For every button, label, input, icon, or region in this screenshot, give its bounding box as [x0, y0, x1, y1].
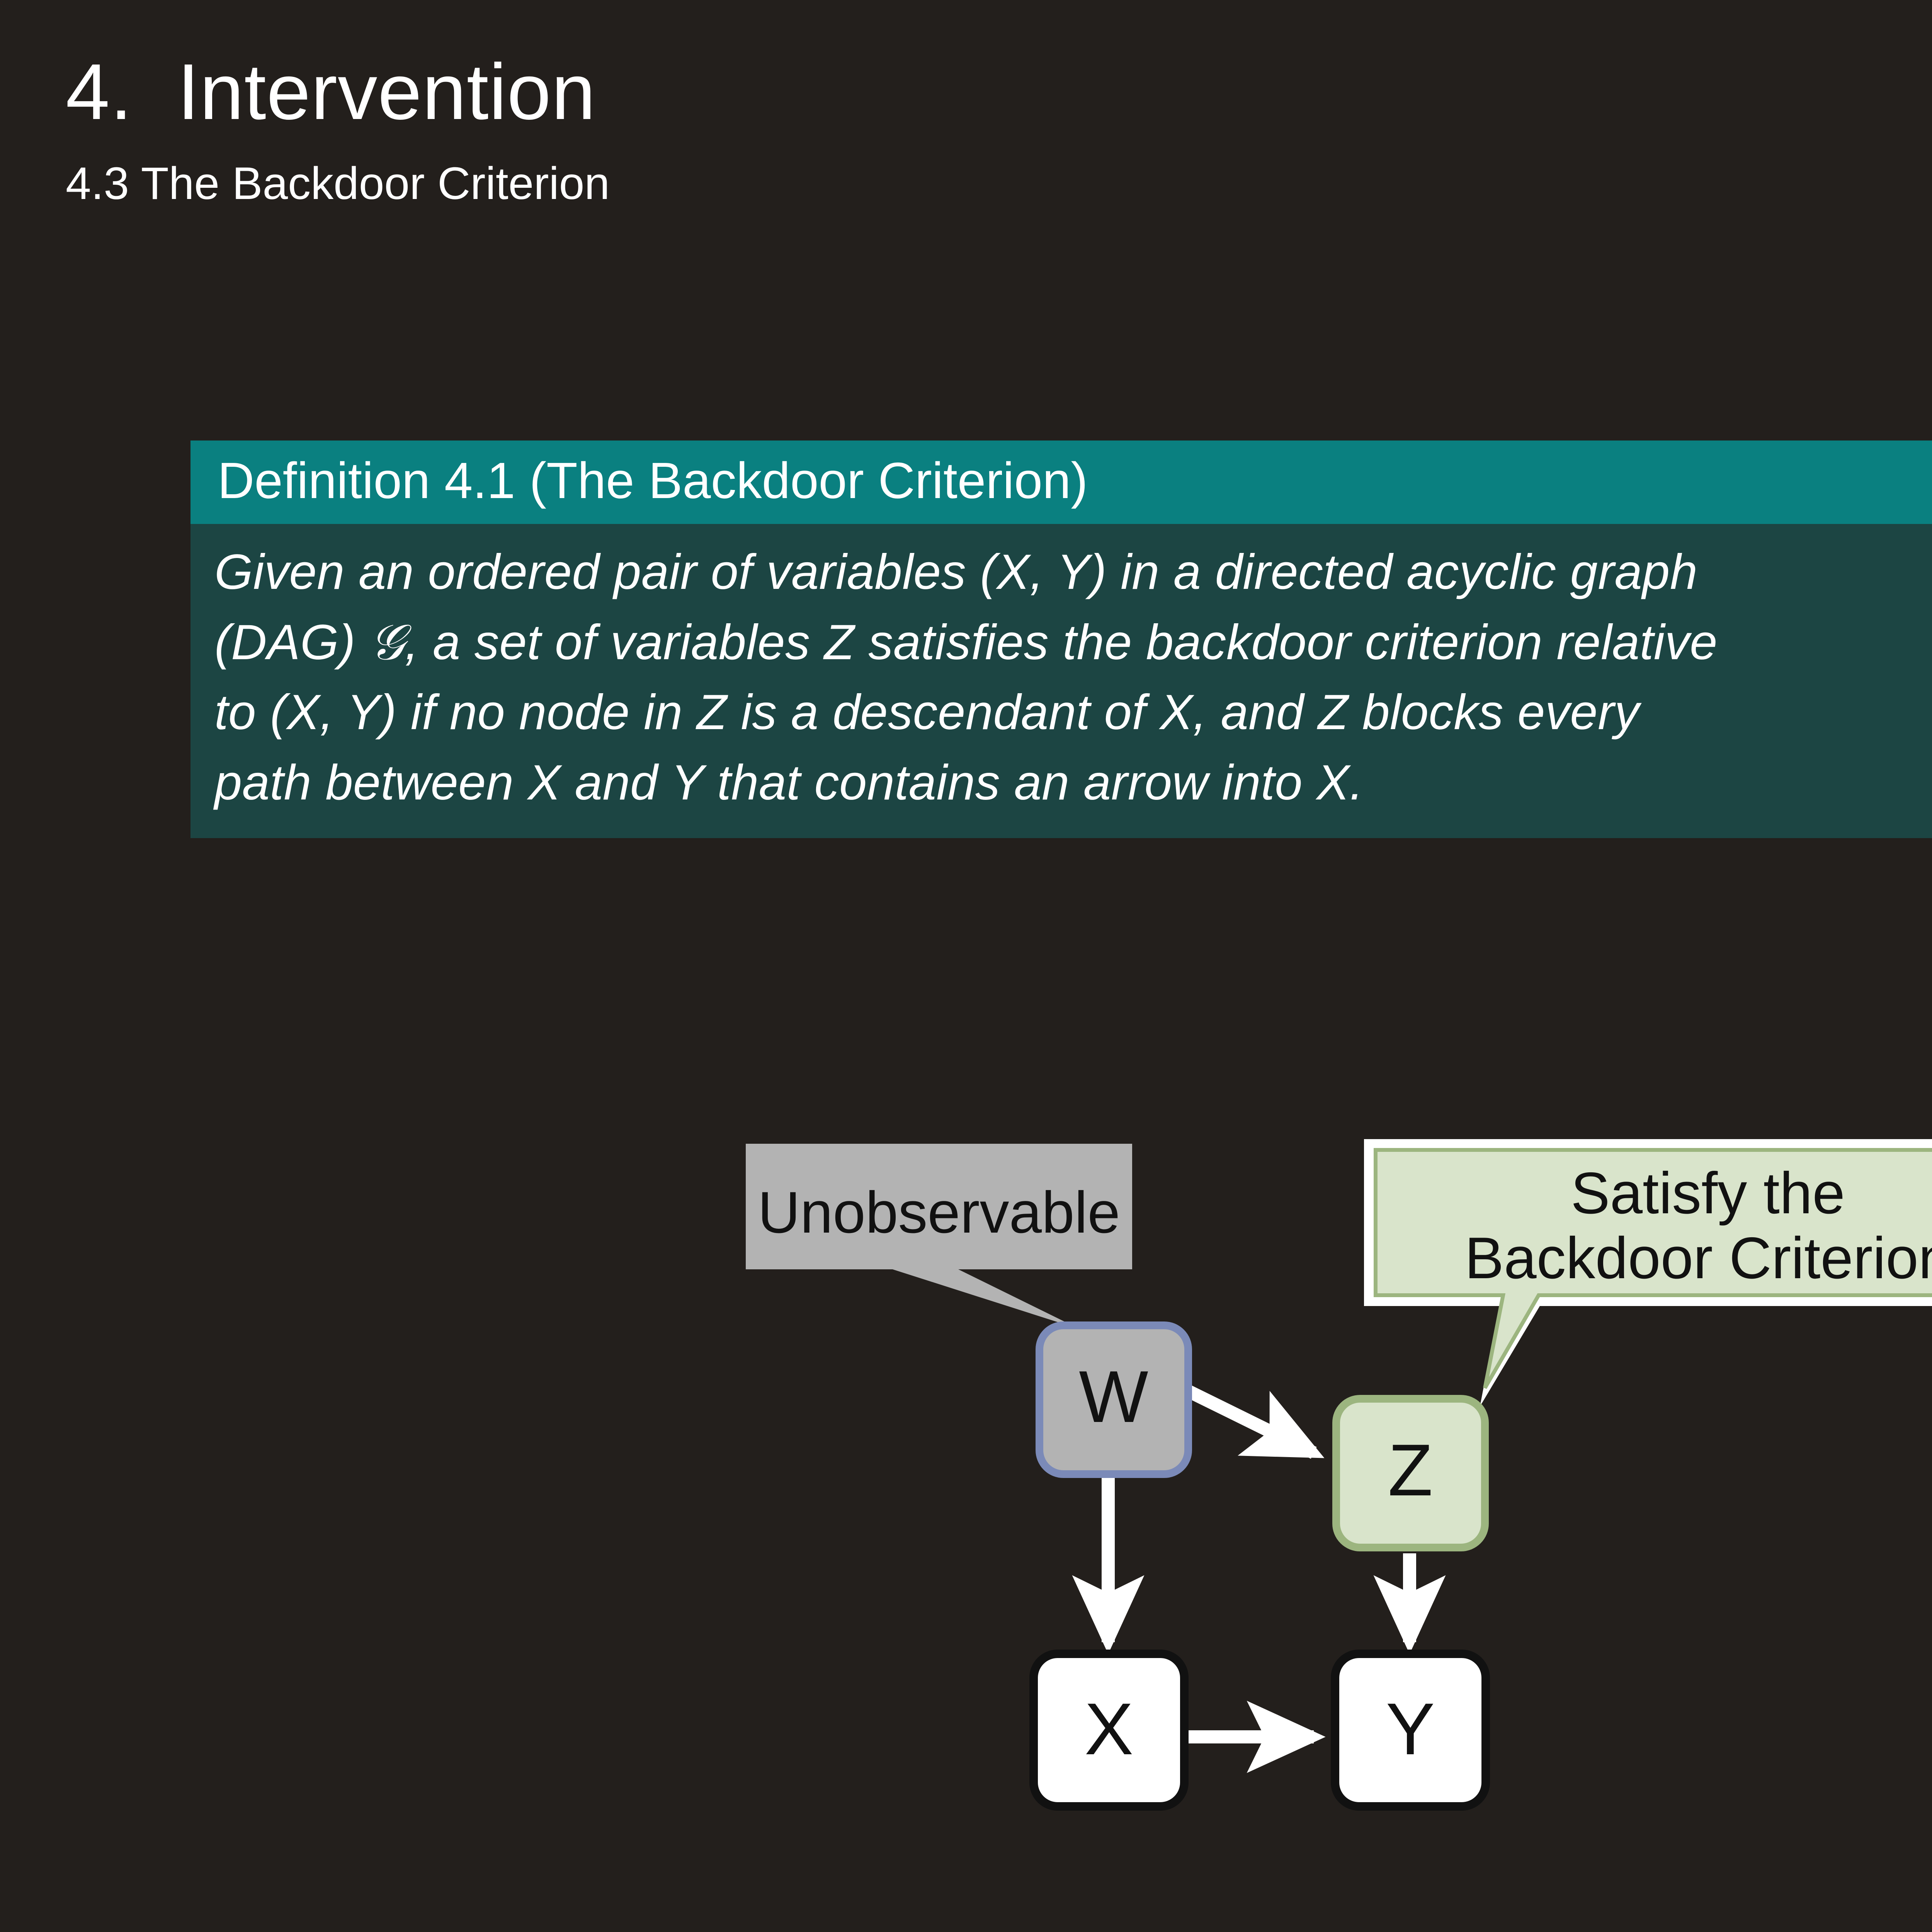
- callout-satisfy-backdoor: Satisfy the Backdoor Criterion: [1364, 1139, 1932, 1406]
- dag-node-z[interactable]: Z: [1336, 1399, 1485, 1548]
- definition-line: to (X, Y) if no node in Z is a descendan…: [214, 677, 1932, 748]
- dag-node-x[interactable]: X: [1034, 1654, 1184, 1806]
- edge-w-z: [1188, 1391, 1314, 1453]
- definition-title: Definition 4.1 (The Backdoor Criterion): [218, 451, 1932, 511]
- dag-node-w[interactable]: W: [1039, 1325, 1188, 1474]
- definition-line: (DAG) 𝒢, a set of variables Z satisfies …: [214, 607, 1932, 678]
- page-subtitle: 4.3 The Backdoor Criterion: [66, 157, 610, 210]
- definition-body: Given an ordered pair of variables (X, Y…: [190, 524, 1932, 838]
- callout-unobservable-label: Unobservable: [758, 1180, 1120, 1245]
- callout-satisfy-line2: Backdoor Criterion: [1465, 1225, 1932, 1291]
- node-z-label: Z: [1388, 1429, 1433, 1511]
- node-y-label: Y: [1386, 1688, 1435, 1770]
- definition-block: Definition 4.1 (The Backdoor Criterion) …: [190, 440, 1932, 838]
- dag-node-y[interactable]: Y: [1335, 1654, 1486, 1806]
- definition-line: path between X and Y that contains an ar…: [214, 748, 1932, 818]
- page-title: 4. Intervention: [66, 50, 610, 133]
- definition-header: Definition 4.1 (The Backdoor Criterion): [190, 440, 1932, 524]
- slide-header: 4. Intervention 4.3 The Backdoor Criteri…: [66, 50, 610, 210]
- callout-satisfy-line1: Satisfy the: [1571, 1160, 1845, 1226]
- callout-unobservable: Unobservable: [746, 1144, 1132, 1329]
- dag-diagram: Unobservable Satisfy the Backdoor Criter…: [0, 1113, 1932, 1866]
- node-w-label: W: [1079, 1356, 1148, 1438]
- node-x-label: X: [1085, 1688, 1134, 1770]
- definition-line: Given an ordered pair of variables (X, Y…: [214, 537, 1932, 607]
